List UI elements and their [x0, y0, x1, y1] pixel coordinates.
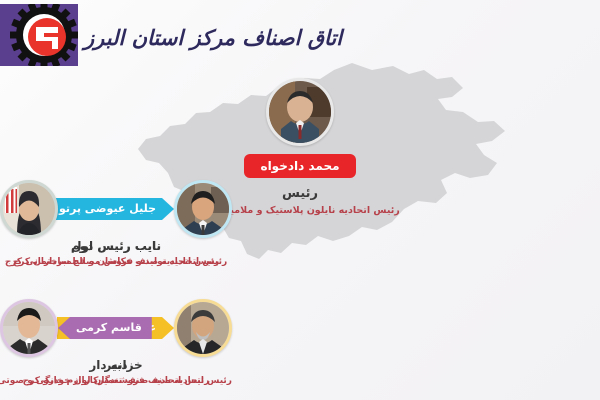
avatar-vice-chair-1 — [0, 180, 58, 238]
page-title: اتاق اصناف مرکز استان البرز — [84, 26, 342, 50]
avatar-chairman — [266, 78, 334, 146]
avatar-treasurer — [174, 299, 232, 357]
role-chairman: رئیس — [282, 186, 318, 201]
org-chart-poster: اتاق اصناف مرکز استان البرز محمد دادخواه… — [0, 0, 600, 400]
gear-icon — [0, 4, 78, 66]
poster-header: اتاق اصناف مرکز استان البرز — [0, 0, 600, 72]
name-banner-vice-chair-2: جلیل عیوضی پرتو — [49, 198, 174, 220]
role-vice-chair-2: نایب رئیس دوم — [0, 239, 232, 253]
role-secretary: دبیر — [0, 358, 232, 372]
asnaf-chamber-logo — [0, 4, 78, 66]
avatar-vice-chair-2 — [174, 180, 232, 238]
avatar-secretary — [0, 299, 58, 357]
org-vice-chair-2: رئیس اتحادیه تولید و فروش مصالح ساختمانی… — [0, 257, 232, 267]
name-banner-chairman: محمد دادخواه — [244, 154, 355, 178]
org-secretary: رئیس اتحادیه صنف فروشندگان لوازم خانگی و… — [0, 376, 232, 386]
name-banner-secretary: قاسم کرمی — [58, 317, 152, 339]
